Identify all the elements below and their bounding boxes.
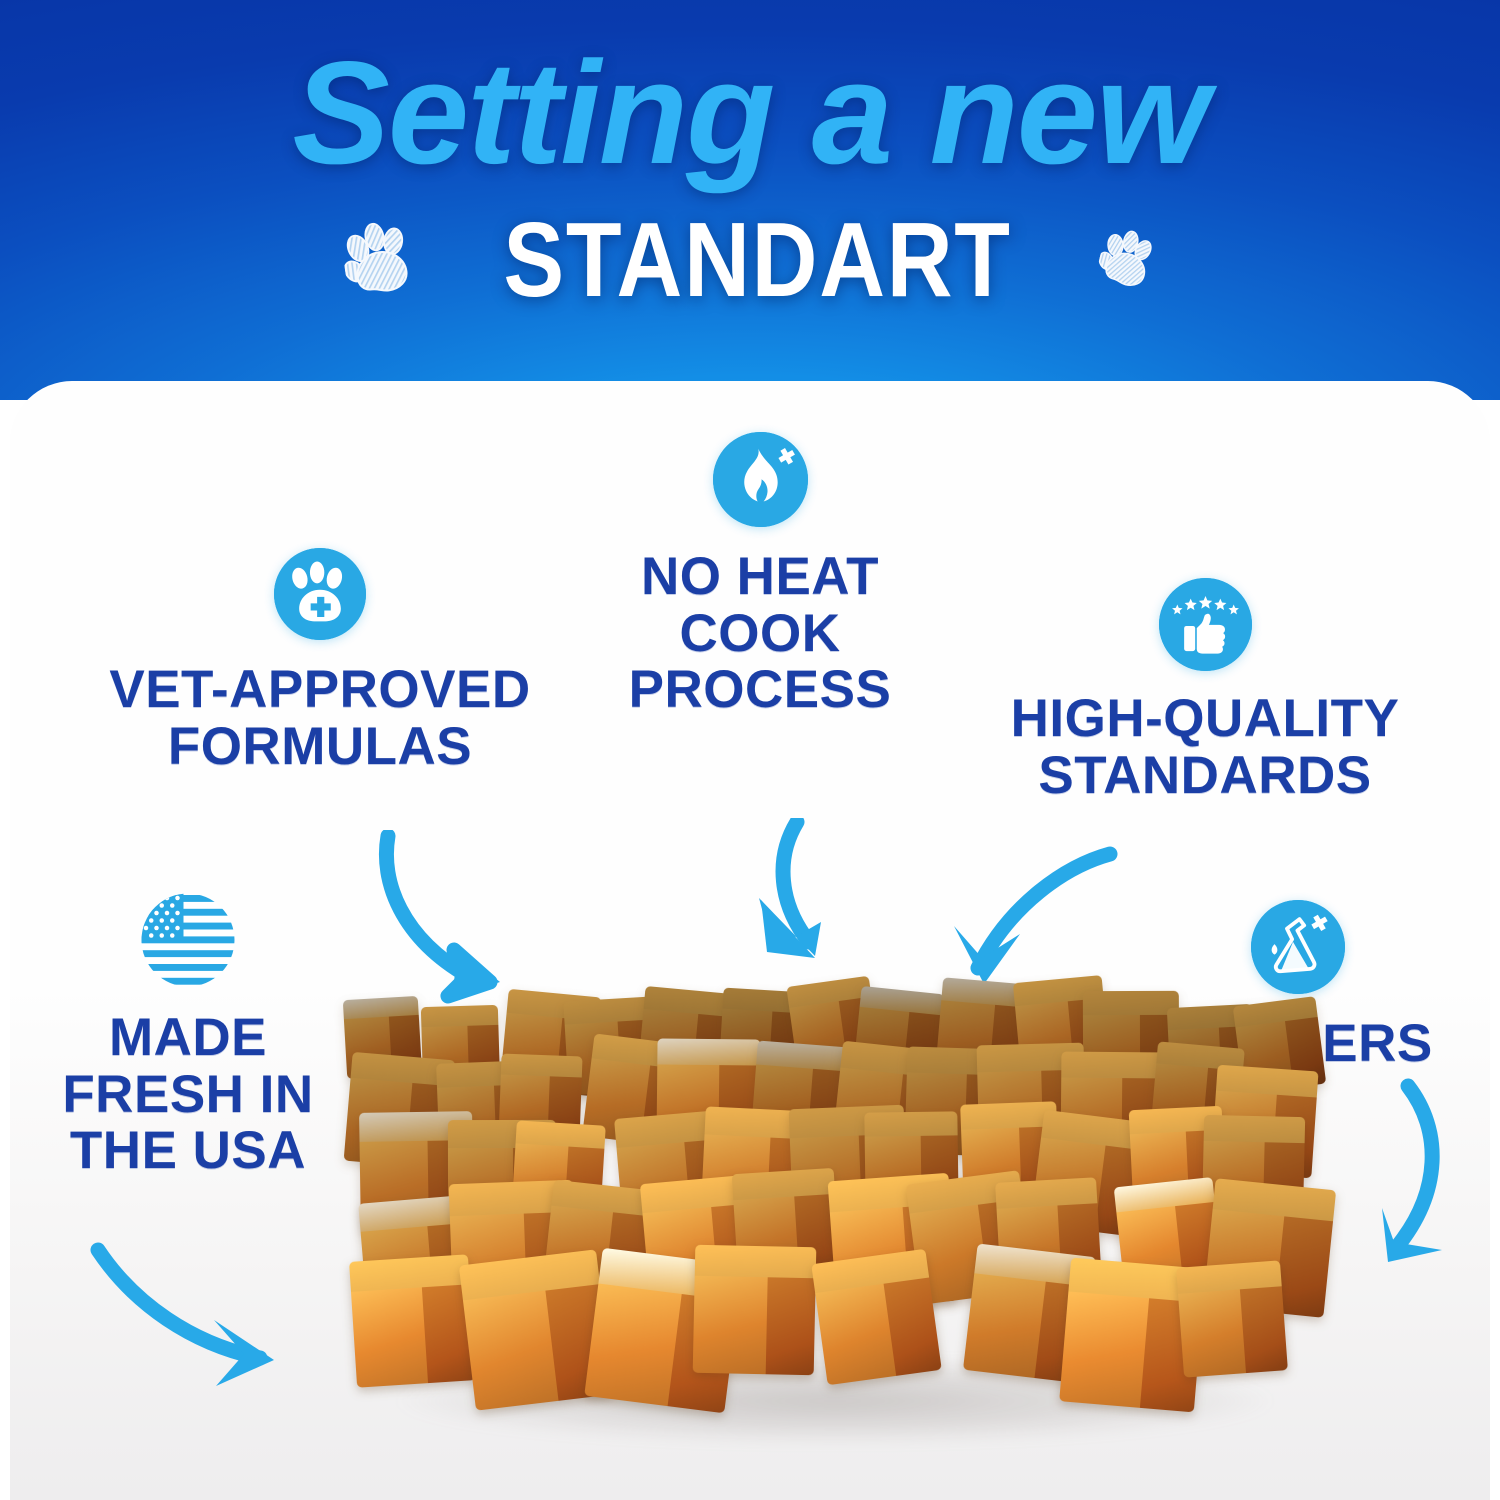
- feature-high-quality: HIGH-QUALITY STANDARDS: [965, 578, 1445, 804]
- cube-front-face: [1059, 1292, 1152, 1408]
- paw-print-icon: [344, 222, 416, 298]
- cube-front-face: [463, 1290, 561, 1410]
- feature-no-heat: NO HEAT COOK PROCESS: [560, 432, 960, 719]
- subtitle-row: STANDART: [0, 205, 1500, 315]
- cube-front-face: [1178, 1289, 1248, 1377]
- feature-vet-approved: VET-APPROVED FORMULAS: [60, 548, 580, 775]
- header-banner: Setting a new STANDART: [0, 0, 1500, 400]
- feature-label: NO HEAT COOK PROCESS: [629, 549, 892, 719]
- product-cube: [811, 1248, 942, 1385]
- product-image-freeze-dried-cubes: [330, 990, 1340, 1460]
- cube-top-face: [1061, 1052, 1163, 1081]
- product-cube: [693, 1245, 817, 1376]
- cube-side-face: [765, 1277, 815, 1375]
- product-cube: [1176, 1260, 1287, 1377]
- product-cube: [349, 1254, 476, 1388]
- no-flask-icon: [1251, 900, 1345, 994]
- cube-front-face: [351, 1287, 431, 1387]
- cube-front-face: [693, 1276, 770, 1375]
- cube-top-face: [864, 1112, 958, 1139]
- cube-side-face: [1240, 1286, 1287, 1372]
- feature-label: HIGH-QUALITY STANDARDS: [1011, 691, 1400, 804]
- thumbs-up-five-stars-icon: [1159, 578, 1252, 671]
- page-headline: Setting a new: [0, 38, 1500, 188]
- feature-label: MADE FRESH IN THE USA: [62, 1010, 313, 1180]
- no-flame-icon: [713, 432, 808, 527]
- page-subtitle: STANDART: [504, 205, 1012, 315]
- feature-label: VET-APPROVED FORMULAS: [109, 662, 530, 775]
- paw-print-icon: [1100, 230, 1156, 290]
- cube-side-face: [1274, 1216, 1332, 1318]
- infographic-root: Setting a new STANDART: [0, 0, 1500, 1500]
- feature-made-in-usa: MADE FRESH IN THE USA: [28, 892, 348, 1180]
- usa-flag-circle-icon: [140, 892, 236, 988]
- cube-top-face: [1083, 991, 1179, 1018]
- cube-front-face: [963, 1274, 1048, 1378]
- paw-with-medical-cross-icon: [274, 548, 366, 640]
